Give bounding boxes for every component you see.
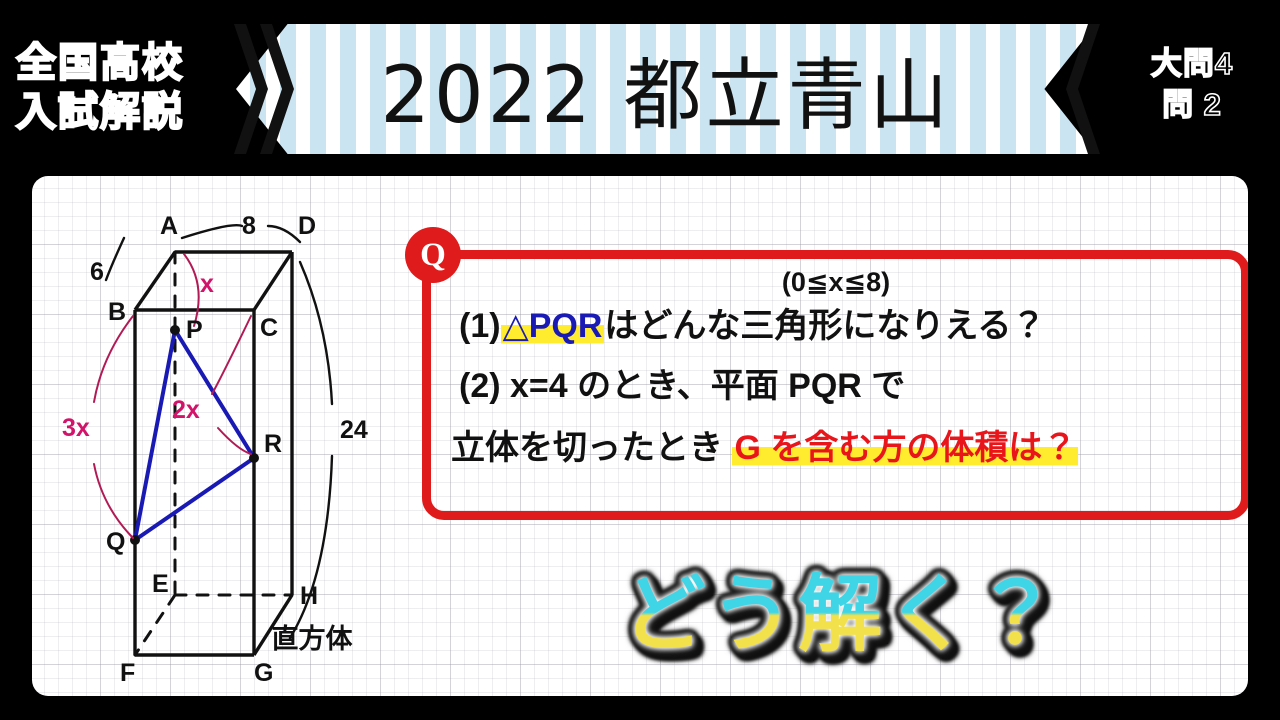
vertex-label-B: B [108,298,126,326]
arc-3x-upper [94,316,133,402]
triangle-pqr-path [135,330,254,540]
dimension-label-6: 6 [90,258,104,286]
question-line-1: (1)△PQRはどんな三角形になりえる？ [459,309,1223,345]
question-line-3: 立体を切ったとき G を含む方の体積は？ [451,431,1223,467]
dimension-label-8: 8 [242,212,256,240]
arc-2x-lower [218,428,251,454]
dimension-arcs-black [106,225,332,638]
screenshot-root: 全国高校 入試解説 2022 都立青山 大問4 問 2 [0,0,1280,720]
vertex-label-F: F [120,659,135,687]
vertex-label-E: E [152,570,169,598]
vertex-label-C: C [260,314,278,342]
vertex-label-D: D [298,212,316,240]
grid-paper-panel: A B C D E F G H P Q R 8 [32,176,1248,696]
triangle-pqr [135,330,254,540]
point-label-Q: Q [106,528,125,556]
how-to-solve-banner: どう解く？ [607,554,1077,674]
arc-24-upper [300,262,332,404]
edge-A-B [135,252,175,310]
title-ribbon: 2022 都立青山 [236,24,1096,154]
dimension-label-3x: 3x [62,414,90,442]
point-P-dot [170,325,180,335]
edge-E-F [135,595,175,655]
header-bar: 全国高校 入試解説 2022 都立青山 大問4 問 2 [0,0,1280,172]
problem-number-badge: 大問4 問 2 [1122,44,1262,126]
triangle-pqr-label: PQR [529,307,603,345]
cuboid-svg: A B C D E F G H P Q R 8 [32,176,422,696]
question-range: (0≦x≦8) [431,267,1241,298]
arc-24-lower [290,456,332,638]
figure-caption: 直方体 [272,624,354,655]
arc-6 [106,238,124,280]
arc-8-right [268,226,300,242]
point-label-P: P [186,316,203,344]
arc-2x-upper [212,316,251,394]
vertex-label-G: G [254,659,273,687]
question-line-2: (2) x=4 のとき、平面 PQR で [459,369,1223,405]
question-card: Q (0≦x≦8) (1)△PQRはどんな三角形になりえる？ (2) x=4 の… [422,250,1248,520]
dimension-label-2x: 2x [172,396,200,424]
series-badge: 全国高校 入試解説 [16,34,232,142]
question-1-rest: はどんな三角形になりえる？ [604,307,1045,345]
arc-3x-lower [94,464,133,538]
cuboid-figure: A B C D E F G H P Q R 8 [32,176,422,696]
point-label-R: R [264,430,282,458]
question-3-highlight: G を含む方の体積は？ [732,429,1078,467]
vertex-label-A: A [160,212,178,240]
triangle-symbol: △ [503,307,529,345]
arc-8-left [182,225,242,238]
question-3-prefix: 立体を切ったとき [451,429,723,467]
edge-D-C [254,252,292,310]
series-badge-line1: 全国高校 [16,39,184,88]
dimension-label-24: 24 [340,416,368,444]
dimension-label-x: x [200,270,214,298]
problem-number-line1: 大問4 [1122,44,1262,85]
page-title: 2022 都立青山 [236,24,1096,154]
question-1-prefix: (1) [459,307,501,345]
series-badge-line2: 入試解説 [16,88,184,137]
problem-number-line2: 問 2 [1122,85,1262,126]
how-to-solve-text: どう解く？ [622,572,1062,656]
vertex-label-H: H [300,582,318,610]
